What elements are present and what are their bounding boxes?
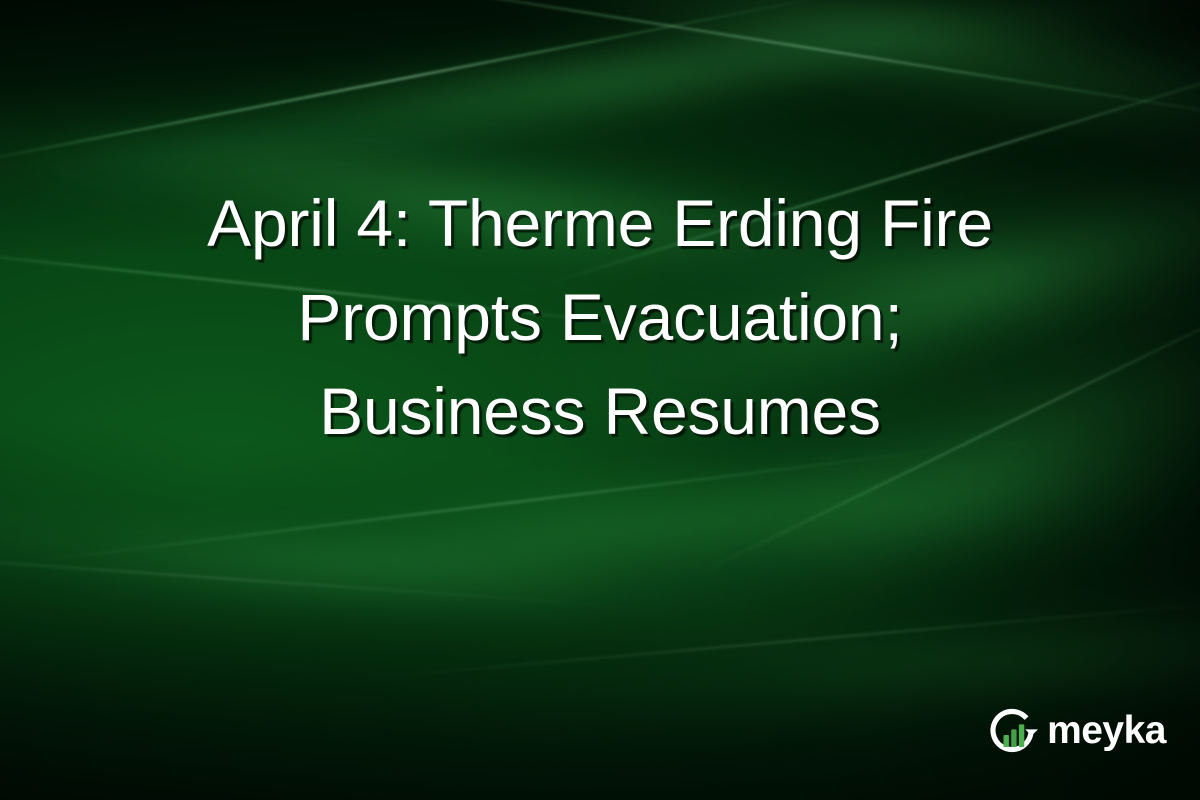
light-filament: [27, 447, 956, 563]
headline-line-3: Business Resumes: [70, 364, 1130, 458]
light-filament: [362, 602, 1200, 679]
light-filament: [342, 0, 1200, 125]
light-filament: [0, 0, 832, 168]
light-streak: [0, 455, 986, 680]
headline: April 4: Therme Erding Fire Prompts Evac…: [0, 176, 1200, 458]
headline-line-1: April 4: Therme Erding Fire: [70, 176, 1130, 270]
news-card: April 4: Therme Erding Fire Prompts Evac…: [0, 0, 1200, 800]
meyka-ring-barchart-icon: [985, 704, 1039, 758]
meyka-logo: meyka: [985, 704, 1166, 758]
light-filament: [0, 548, 599, 605]
headline-line-2: Prompts Evacuation;: [70, 270, 1130, 364]
meyka-wordmark: meyka: [1047, 711, 1166, 750]
